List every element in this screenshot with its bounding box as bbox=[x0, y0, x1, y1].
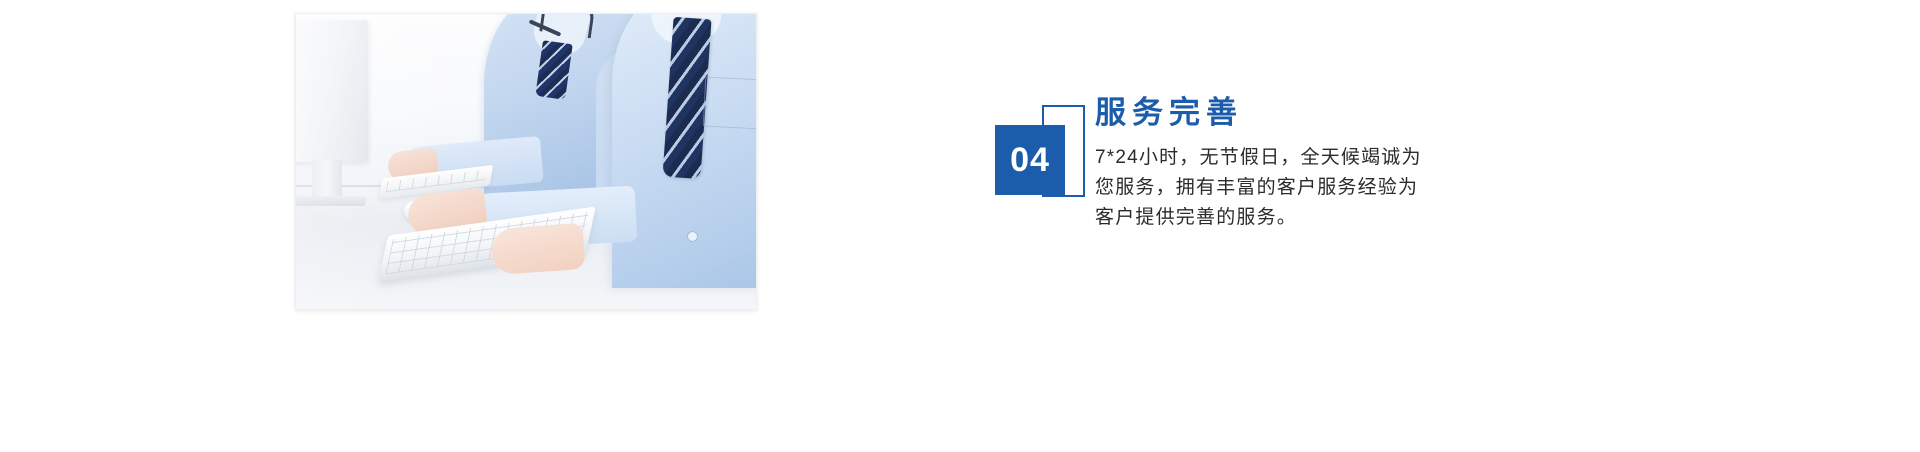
feature-photo bbox=[295, 13, 757, 310]
feature-description-line: 您服务，拥有丰富的客户服务经验为 bbox=[1095, 173, 1595, 203]
step-badge-number: 04 bbox=[1010, 143, 1050, 177]
photo-monitor-base bbox=[296, 196, 366, 206]
photo-monitor bbox=[296, 20, 368, 162]
photo-image bbox=[296, 14, 756, 309]
photo-hand-front-lower bbox=[491, 223, 586, 275]
photo-agent-front-pocket bbox=[703, 77, 756, 130]
page-root: 04 服务完善 7*24小时，无节假日，全天候竭诚为 您服务，拥有丰富的客户服务… bbox=[0, 0, 1920, 452]
feature-description-line: 7*24小时，无节假日，全天候竭诚为 bbox=[1095, 143, 1595, 173]
photo-monitor-neck bbox=[312, 160, 342, 198]
feature-description-line: 客户提供完善的服务。 bbox=[1095, 203, 1595, 233]
feature-title: 服务完善 bbox=[1095, 95, 1595, 132]
photo-agent-front-cuff-button bbox=[688, 232, 697, 241]
feature-text-column: 服务完善 7*24小时，无节假日，全天候竭诚为 您服务，拥有丰富的客户服务经验为… bbox=[1095, 95, 1595, 233]
step-badge-square: 04 bbox=[995, 125, 1065, 195]
feature-description: 7*24小时，无节假日，全天候竭诚为 您服务，拥有丰富的客户服务经验为 客户提供… bbox=[1095, 143, 1595, 233]
step-badge: 04 bbox=[995, 105, 1085, 197]
